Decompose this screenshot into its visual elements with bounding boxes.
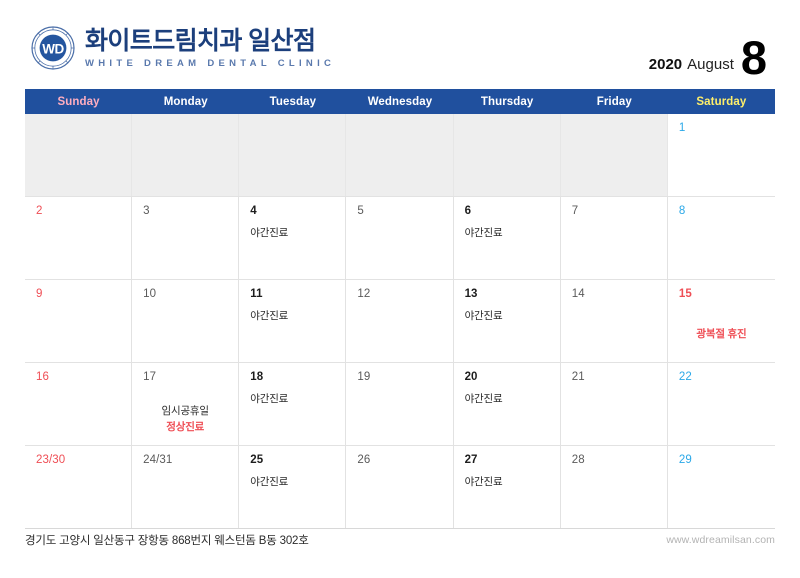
calendar-day-cell-27[interactable]: 27야간진료 (454, 446, 561, 528)
calendar-day-cell-empty-sunday (25, 114, 132, 196)
clinic-name-en: WHITE DREAM DENTAL CLINIC (85, 58, 335, 69)
day-event-night-clinic: 야간진료 (250, 227, 335, 241)
calendar-day-cell-21[interactable]: 21 (561, 363, 668, 445)
calendar-day-cell-29[interactable]: 29 (668, 446, 775, 528)
calendar-day-cell-empty-monday (132, 114, 239, 196)
clinic-address: 경기도 고양시 일산동구 장항동 868번지 웨스턴돔 B동 302호 (25, 532, 309, 548)
day-number: 22 (679, 371, 765, 385)
day-number: 11 (250, 288, 335, 302)
dow-thursday: Thursday (454, 89, 561, 114)
day-number: 6 (465, 205, 550, 219)
day-number: 26 (357, 454, 442, 468)
calendar-day-cell-16[interactable]: 16 (25, 363, 132, 445)
calendar-day-cell-10[interactable]: 10 (132, 280, 239, 362)
calendar-day-cell-8[interactable]: 8 (668, 197, 775, 279)
calendar-week-row: 234야간진료56야간진료78 (25, 197, 775, 280)
calendar-day-cell-19[interactable]: 19 (346, 363, 453, 445)
calendar-day-cell-12[interactable]: 12 (346, 280, 453, 362)
dow-wednesday: Wednesday (346, 89, 453, 114)
day-event-night-clinic: 야간진료 (250, 393, 335, 407)
day-number: 2 (36, 205, 121, 219)
day-number: 29 (679, 454, 765, 468)
calendar-week-row: 1617임시공휴일정상진료18야간진료1920야간진료2122 (25, 363, 775, 446)
calendar-week-row: 91011야간진료1213야간진료1415광복절 휴진 (25, 280, 775, 363)
dow-saturday: Saturday (668, 89, 775, 114)
calendar-day-cell-empty-wednesday (346, 114, 453, 196)
day-number: 21 (572, 371, 657, 385)
svg-text:WD: WD (42, 41, 64, 56)
day-number: 1 (679, 122, 765, 136)
calendar-day-cell-18[interactable]: 18야간진료 (239, 363, 346, 445)
day-number: 5 (357, 205, 442, 219)
calendar-weeks: 1234야간진료56야간진료7891011야간진료1213야간진료1415광복절… (25, 114, 775, 529)
calendar-day-cell-3[interactable]: 3 (132, 197, 239, 279)
calendar-page: WD 화이트드림치과 일산점 WHITE DREAM DENTAL CLINIC… (0, 0, 800, 578)
day-event-note: 임시공휴일정상진료 (132, 403, 238, 436)
calendar-day-cell-26[interactable]: 26 (346, 446, 453, 528)
day-event-night-clinic: 야간진료 (465, 476, 550, 490)
calendar-week-row: 1 (25, 114, 775, 197)
day-event-note-line-highlight: 정상진료 (132, 419, 238, 435)
calendar-day-cell-2[interactable]: 2 (25, 197, 132, 279)
brand-lockup: WD 화이트드림치과 일산점 WHITE DREAM DENTAL CLINIC (31, 26, 335, 70)
clinic-name-ko: 화이트드림치과 일산점 (85, 28, 335, 54)
calendar-day-cell-1[interactable]: 1 (668, 114, 775, 196)
calendar-day-cell-5[interactable]: 5 (346, 197, 453, 279)
dow-monday: Monday (132, 89, 239, 114)
day-number: 8 (679, 205, 765, 219)
day-number: 17 (143, 371, 228, 385)
day-number: 25 (250, 454, 335, 468)
calendar-month-name: August (687, 57, 734, 78)
day-number: 27 (465, 454, 550, 468)
calendar-day-cell-22[interactable]: 22 (668, 363, 775, 445)
calendar-day-cell-empty-friday (561, 114, 668, 196)
dow-tuesday: Tuesday (239, 89, 346, 114)
calendar-day-cell-20[interactable]: 20야간진료 (454, 363, 561, 445)
day-number: 10 (143, 288, 228, 302)
day-number: 23/30 (36, 454, 121, 468)
calendar-grid: Sunday Monday Tuesday Wednesday Thursday… (25, 89, 775, 529)
day-event-note: 광복절 휴진 (668, 326, 775, 342)
day-number: 3 (143, 205, 228, 219)
day-event-night-clinic: 야간진료 (465, 227, 550, 241)
clinic-seal-logo-icon: WD (31, 26, 75, 70)
calendar-day-cell-9[interactable]: 9 (25, 280, 132, 362)
dow-sunday: Sunday (25, 89, 132, 114)
date-heading: 2020 August 8 (649, 24, 766, 78)
day-number: 18 (250, 371, 335, 385)
day-of-week-header: Sunday Monday Tuesday Wednesday Thursday… (25, 89, 775, 114)
day-number: 13 (465, 288, 550, 302)
page-header: WD 화이트드림치과 일산점 WHITE DREAM DENTAL CLINIC… (0, 0, 800, 88)
day-number: 24/31 (143, 454, 228, 468)
calendar-week-row: 23/3024/3125야간진료2627야간진료2829 (25, 446, 775, 528)
calendar-day-cell-7[interactable]: 7 (561, 197, 668, 279)
dow-friday: Friday (561, 89, 668, 114)
day-number: 14 (572, 288, 657, 302)
day-event-night-clinic: 야간진료 (465, 310, 550, 324)
calendar-day-cell-empty-thursday (454, 114, 561, 196)
day-number: 15 (679, 288, 765, 302)
calendar-day-cell-13[interactable]: 13야간진료 (454, 280, 561, 362)
brand-text-block: 화이트드림치과 일산점 WHITE DREAM DENTAL CLINIC (85, 27, 335, 70)
calendar-day-cell-15[interactable]: 15광복절 휴진 (668, 280, 775, 362)
day-event-night-clinic: 야간진료 (250, 476, 335, 490)
calendar-day-cell-28[interactable]: 28 (561, 446, 668, 528)
calendar-day-cell-6[interactable]: 6야간진료 (454, 197, 561, 279)
calendar-day-cell-25[interactable]: 25야간진료 (239, 446, 346, 528)
day-number: 28 (572, 454, 657, 468)
day-event-note-line-highlight: 광복절 휴진 (668, 326, 775, 342)
calendar-day-cell-4[interactable]: 4야간진료 (239, 197, 346, 279)
day-event-night-clinic: 야간진료 (250, 310, 335, 324)
day-event-night-clinic: 야간진료 (465, 393, 550, 407)
day-number: 16 (36, 371, 121, 385)
calendar-month-number: 8 (741, 39, 766, 78)
day-number: 4 (250, 205, 335, 219)
clinic-website-url[interactable]: www.wdreamilsan.com (666, 534, 775, 546)
day-number: 19 (357, 371, 442, 385)
day-number: 20 (465, 371, 550, 385)
calendar-day-cell-empty-tuesday (239, 114, 346, 196)
day-event-note-line-primary: 임시공휴일 (132, 403, 238, 419)
calendar-day-cell-24-31[interactable]: 24/31 (132, 446, 239, 528)
calendar-day-cell-14[interactable]: 14 (561, 280, 668, 362)
calendar-day-cell-23-30[interactable]: 23/30 (25, 446, 132, 528)
calendar-year: 2020 (649, 57, 682, 78)
page-footer: 경기도 고양시 일산동구 장항동 868번지 웨스턴돔 B동 302호 www.… (25, 525, 775, 555)
calendar-day-cell-17[interactable]: 17임시공휴일정상진료 (132, 363, 239, 445)
day-number: 12 (357, 288, 442, 302)
day-number: 9 (36, 288, 121, 302)
calendar-day-cell-11[interactable]: 11야간진료 (239, 280, 346, 362)
day-number: 7 (572, 205, 657, 219)
